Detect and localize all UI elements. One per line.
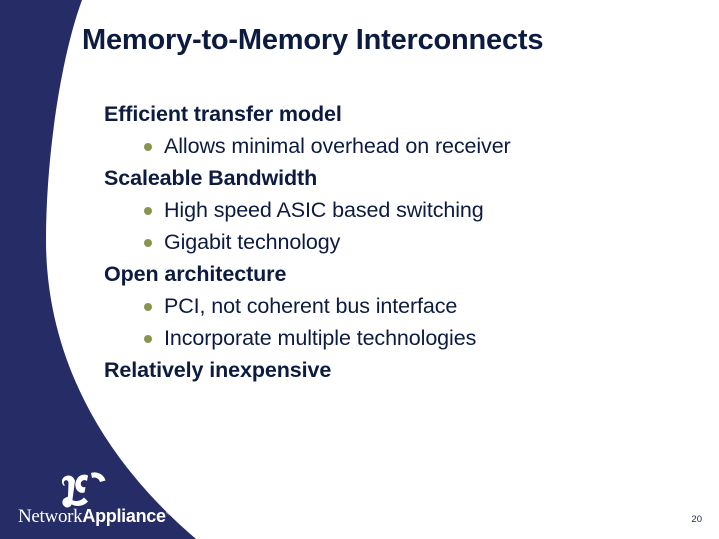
list-item: High speed ASIC based switching [104, 194, 684, 226]
bullet-icon [144, 303, 152, 311]
slide: Memory-to-Memory Interconnects Efficient… [0, 0, 719, 539]
bullet-icon [144, 143, 152, 151]
list-item: Gigabit technology [104, 226, 684, 258]
page-title: Memory-to-Memory Interconnects [82, 24, 682, 57]
bullet-icon [144, 335, 152, 343]
list-item-label: High speed ASIC based switching [164, 198, 484, 222]
bullet-icon [144, 207, 152, 215]
logo-word-network: Network [18, 506, 82, 527]
list-item-label: Scaleable Bandwidth [104, 166, 317, 190]
list-item-label: Open architecture [104, 262, 286, 286]
list-item: Incorporate multiple technologies [104, 322, 684, 354]
registered-trademark-icon: ® [166, 507, 173, 517]
list-item: Efficient transfer model [104, 98, 684, 130]
list-item-label: Relatively inexpensive [104, 358, 331, 382]
bullet-list: Efficient transfer model Allows minimal … [104, 98, 684, 386]
list-item: PCI, not coherent bus interface [104, 290, 684, 322]
list-item: Open architecture [104, 258, 684, 290]
list-item-label: Gigabit technology [164, 230, 340, 254]
page-number: 20 [691, 514, 702, 525]
list-item: Allows minimal overhead on receiver [104, 130, 684, 162]
list-item-label: Allows minimal overhead on receiver [164, 134, 511, 158]
logo-word-appliance: Appliance [82, 506, 165, 526]
company-logo: NetworkAppliance® [18, 470, 188, 532]
list-item-label: PCI, not coherent bus interface [164, 294, 457, 318]
list-item-label: Incorporate multiple technologies [164, 326, 476, 350]
list-item-label: Efficient transfer model [104, 102, 342, 126]
logo-wordmark: NetworkAppliance® [18, 506, 172, 528]
list-item: Scaleable Bandwidth [104, 162, 684, 194]
bullet-icon [144, 239, 152, 247]
list-item: Relatively inexpensive [104, 354, 684, 386]
